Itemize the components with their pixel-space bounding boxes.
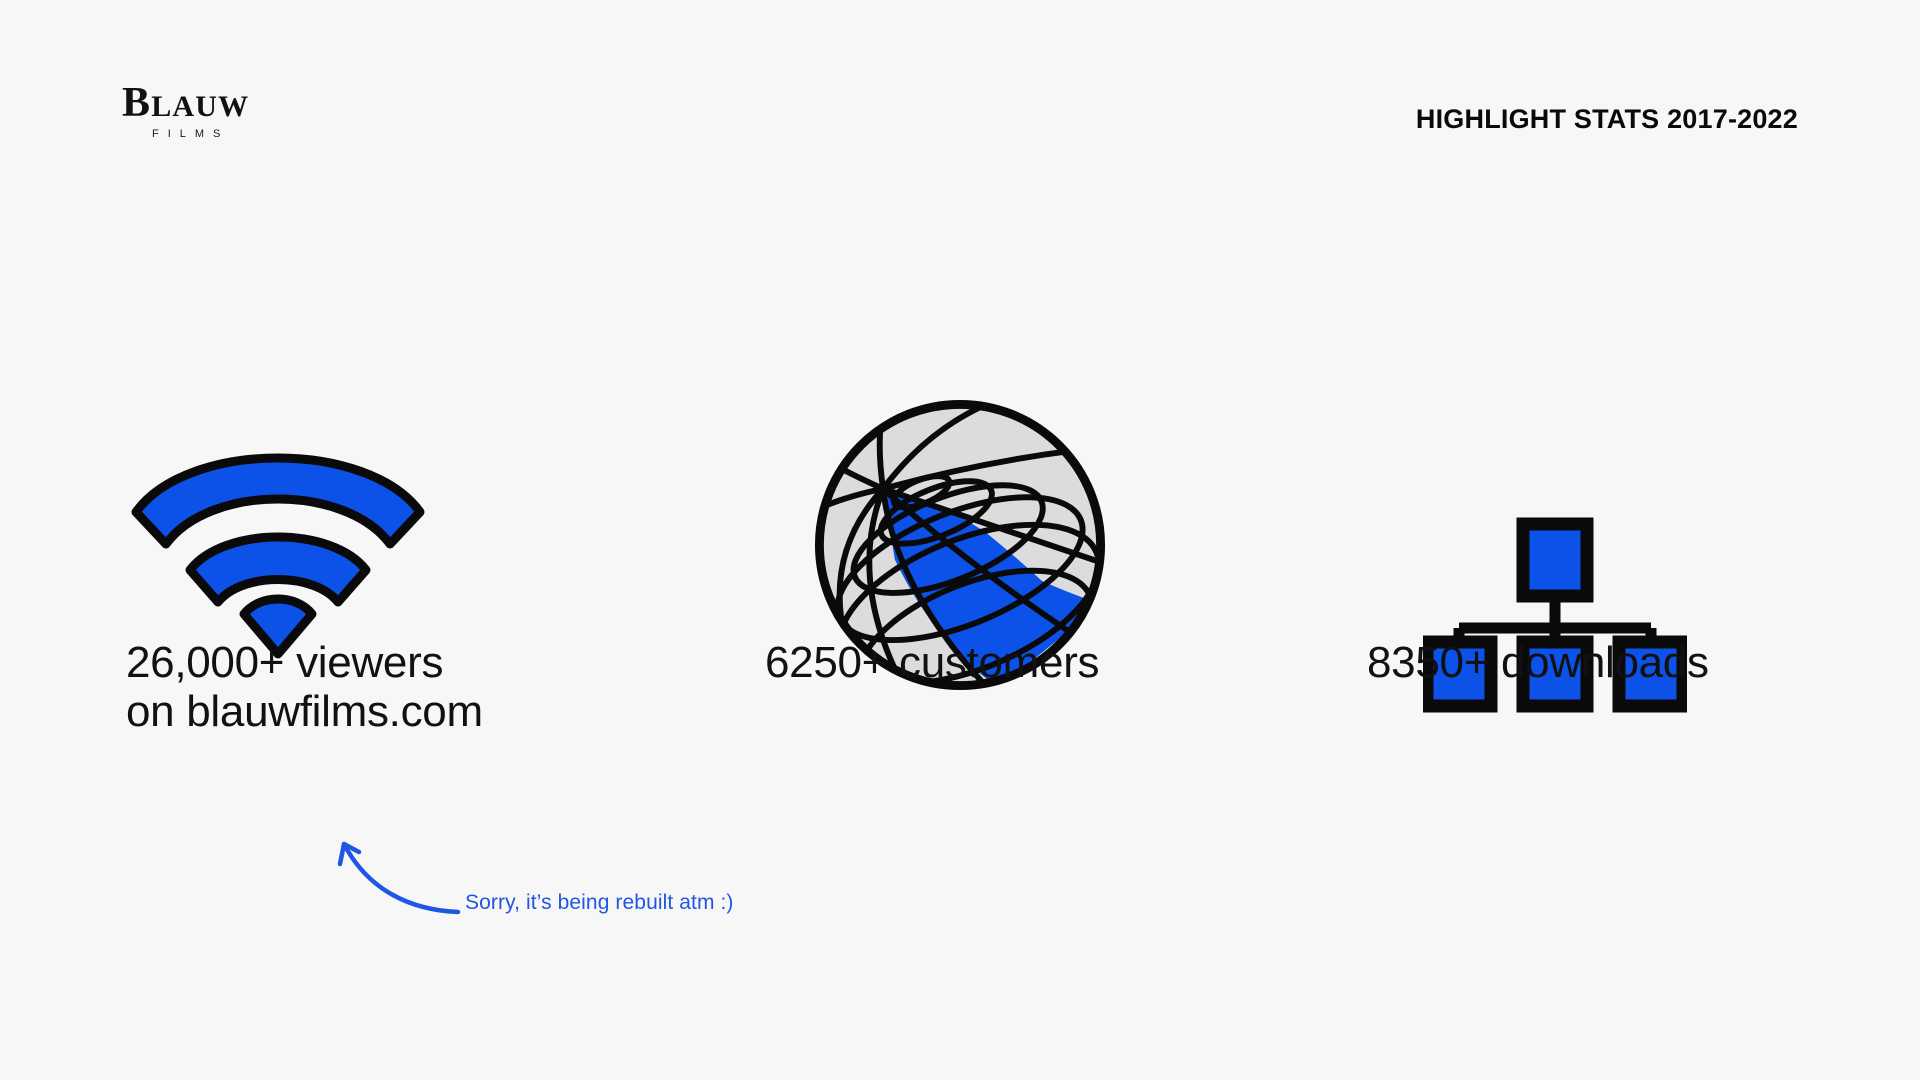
infographic-page: BLAUW FILMS HIGHLIGHT STATS 2017-2022 26… xyxy=(0,0,1920,1080)
network-sitemap-icon xyxy=(1423,455,1687,765)
annotation-arrow-icon xyxy=(310,812,910,942)
stat-label-customers: 6250+ customers xyxy=(765,638,1099,687)
brand-logo: BLAUW FILMS xyxy=(122,88,249,140)
brand-logo-rest: LAUW xyxy=(151,90,249,123)
stat-label-viewers: 26,000+ viewers on blauwfilms.com xyxy=(126,638,483,737)
brand-logo-initial: B xyxy=(122,80,151,126)
wifi-icon xyxy=(128,372,428,682)
annotation: Sorry, it’s being rebuilt atm :) xyxy=(310,812,910,942)
stat-label-downloads: 8350+ downloads xyxy=(1367,638,1709,687)
brand-logo-wordmark: BLAUW xyxy=(122,88,249,122)
page-title: HIGHLIGHT STATS 2017-2022 xyxy=(1416,104,1798,135)
brand-logo-subtitle: FILMS xyxy=(152,129,249,140)
annotation-text: Sorry, it’s being rebuilt atm :) xyxy=(465,891,734,915)
